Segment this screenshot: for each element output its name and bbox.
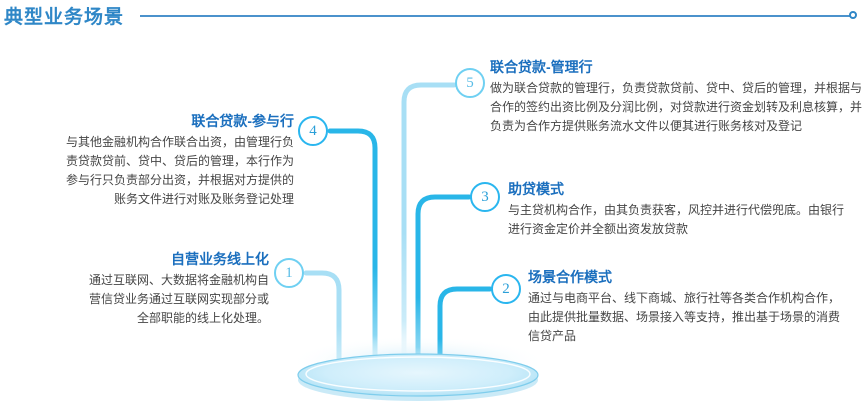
scenario-body-3: 与主贷机构合作，由其负责获客，风控并进行代偿兜底。由银行进行资金定价并全额出资发… bbox=[508, 201, 848, 239]
scenario-body-1: 通过互联网、大数据将金融机构自营信贷业务通过互联网实现部分或全部职能的线上化处理… bbox=[85, 271, 269, 328]
scenario-body-4: 与其他金融机构合作联合出资，由管理行负责贷款贷前、贷中、贷后的管理，本行作为参与… bbox=[62, 133, 294, 209]
scenario-item-2: 场景合作模式 通过与电商平台、线下商城、旅行社等各类合作机构合作，由此提供批量数… bbox=[528, 268, 848, 346]
step-badge-2[interactable]: 2 bbox=[491, 274, 521, 304]
scenario-item-3: 助贷模式 与主贷机构合作，由其负责获客，风控并进行代偿兜底。由银行进行资金定价并… bbox=[508, 180, 848, 239]
scenario-title-3: 助贷模式 bbox=[508, 180, 848, 198]
step-badge-5[interactable]: 5 bbox=[455, 68, 485, 98]
step-badge-1[interactable]: 1 bbox=[274, 258, 304, 288]
step-badge-3[interactable]: 3 bbox=[470, 182, 500, 212]
infographic-page: 典型业务场景 bbox=[0, 0, 865, 403]
scenario-item-5: 联合贷款-管理行 做为联合贷款的管理行，负责贷款贷前、贷中、贷后的管理，并根据与… bbox=[490, 58, 862, 136]
scenario-title-5: 联合贷款-管理行 bbox=[490, 58, 862, 76]
scenario-title-1: 自营业务线上化 bbox=[85, 250, 269, 268]
plant-base-disc bbox=[298, 354, 538, 401]
scenario-title-4: 联合贷款-参与行 bbox=[62, 112, 294, 130]
step-badge-4[interactable]: 4 bbox=[298, 116, 328, 146]
stem-branch-5 bbox=[404, 85, 454, 380]
scenario-body-2: 通过与电商平台、线下商城、旅行社等各类合作机构合作，由此提供批量数据、场景接入等… bbox=[528, 289, 848, 346]
scenario-item-1: 自营业务线上化 通过互联网、大数据将金融机构自营信贷业务通过互联网实现部分或全部… bbox=[85, 250, 269, 328]
scenario-body-5: 做为联合贷款的管理行，负责贷款贷前、贷中、贷后的管理，并根据与合作的签约出资比例… bbox=[490, 79, 862, 136]
scenario-item-4: 联合贷款-参与行 与其他金融机构合作联合出资，由管理行负责贷款贷前、贷中、贷后的… bbox=[62, 112, 294, 209]
scenario-title-2: 场景合作模式 bbox=[528, 268, 848, 286]
